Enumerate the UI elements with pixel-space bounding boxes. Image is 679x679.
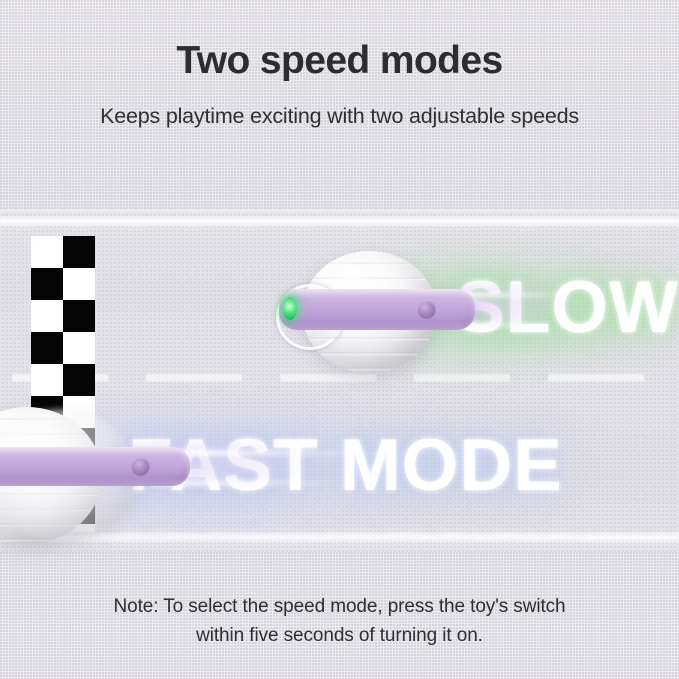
fast-toy-band-button [131, 457, 150, 476]
fast-toy-purple-band [0, 447, 190, 486]
fast-mode-toy [0, 0, 679, 679]
product-feature-graphic: Two speed modes Keeps playtime exciting … [0, 0, 679, 679]
fast-toy-speed-streak [160, 450, 390, 456]
